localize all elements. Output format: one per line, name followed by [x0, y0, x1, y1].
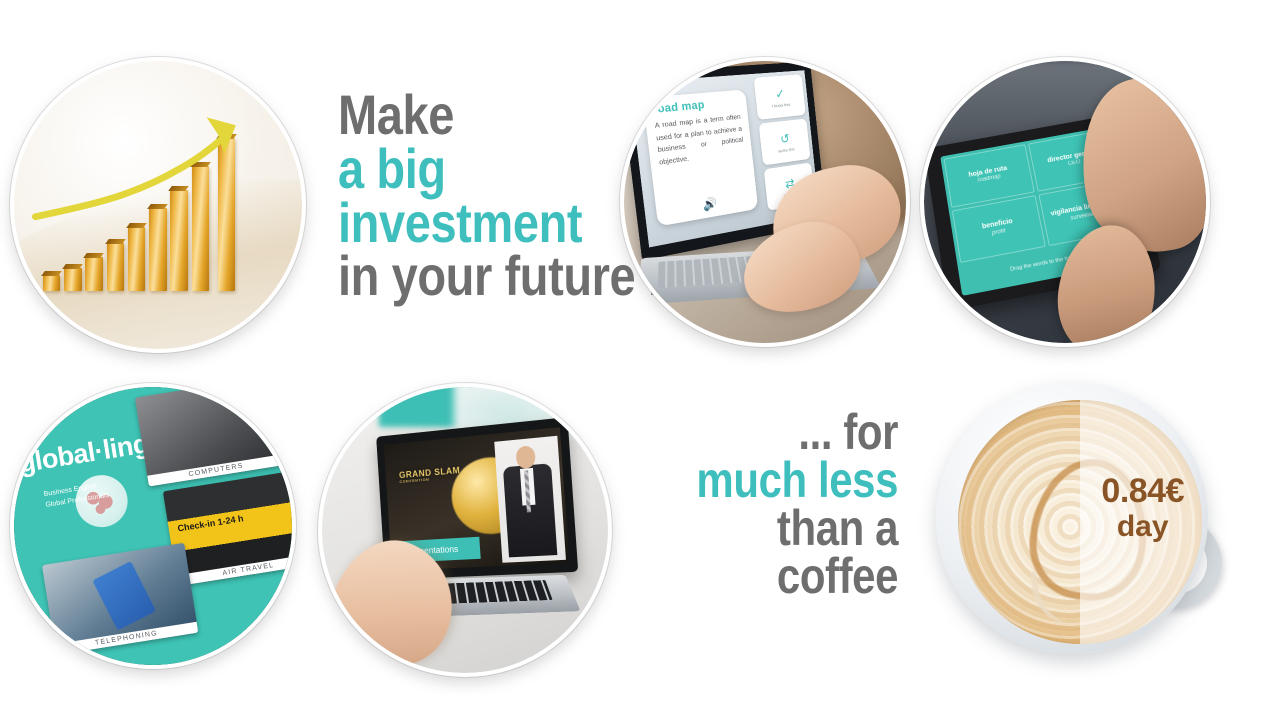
price-label: 0.84€ day	[1083, 474, 1203, 542]
tile-laptop-presentations[interactable]: GRAND SLAM CONVENTION in presentations	[318, 383, 612, 677]
headline-right: ... for much less than a coffee	[696, 408, 898, 600]
checkin-sign: Check-in 1-24 h	[177, 514, 244, 534]
check-icon: ✓ I know this	[753, 74, 805, 120]
category-card-computers: COMPUTERS	[135, 387, 285, 487]
refresh-icon: ↺ revise this	[758, 118, 810, 165]
vocab-en: CEO	[1068, 159, 1082, 168]
headline-line-4: coffee	[696, 552, 898, 600]
price-amount: 0.84€	[1083, 474, 1203, 508]
category-card-telephoning: TELEPHONING	[42, 543, 199, 655]
price-unit: day	[1083, 512, 1203, 542]
headline-line-2: much less	[696, 456, 898, 504]
slide-canvas: Make a big investment in your future ...…	[0, 0, 1280, 720]
app-screen: global·ling Business English Global Prof…	[14, 387, 292, 665]
check-label: I know this	[772, 102, 791, 109]
growth-arrow-icon	[14, 61, 302, 349]
laptop-roadmap-image: road map A road map is a term often used…	[624, 61, 906, 343]
check-glyph: ✓	[774, 86, 785, 102]
headline-line-3: than a	[696, 504, 898, 552]
refresh-label: revise this	[777, 146, 795, 153]
phone-icon	[92, 561, 156, 631]
headline-line-1: ... for	[696, 408, 898, 456]
tile-growth-chart[interactable]	[10, 57, 306, 353]
globalling-image: global·ling Business English Global Prof…	[14, 387, 292, 665]
tile-laptop-roadmap[interactable]: road map A road map is a term often used…	[620, 57, 910, 347]
flashcard-body: A road map is a term often used for a pl…	[654, 112, 745, 169]
tile-tablet-vocabulary[interactable]: hoja de ruta roadmap director general CE…	[920, 57, 1210, 347]
vocab-card: beneficio profit	[952, 195, 1046, 262]
vocab-en: profit	[992, 228, 1007, 237]
video-title: GRAND SLAM CONVENTION	[399, 466, 461, 485]
speaker-icon: 🔊	[701, 195, 717, 211]
growth-chart-image	[14, 61, 302, 349]
category-label: AIR TRAVEL	[176, 553, 292, 586]
globalling-logo: global·ling	[17, 429, 151, 480]
coffee-cup[interactable]: 0.84€ day	[928, 378, 1216, 662]
category-label: TELEPHONING	[54, 622, 198, 655]
tile-globalling-app[interactable]: global·ling Business English Global Prof…	[10, 383, 296, 669]
presentations-image: GRAND SLAM CONVENTION in presentations	[322, 387, 608, 673]
presenter-figure	[495, 436, 566, 563]
refresh-glyph: ↺	[779, 131, 790, 147]
tablet-image: hoja de ruta roadmap director general CE…	[924, 61, 1206, 343]
cup-body: 0.84€ day	[936, 382, 1208, 654]
flashcard: road map A road map is a term often used…	[643, 89, 758, 225]
